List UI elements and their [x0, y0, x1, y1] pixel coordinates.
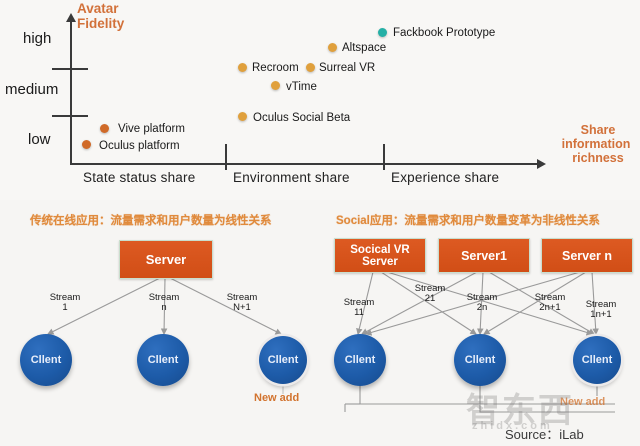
y-tick-high-medium	[52, 68, 88, 70]
x-axis-title-line2: information	[552, 138, 640, 151]
left-client-2-label: Cllent	[148, 354, 179, 366]
right-stream-11-line2: 11	[332, 308, 386, 318]
left-diagram-title: 传统在线应用：流量需求和用户数量为线性关系	[30, 212, 272, 228]
slide-root: high medium low Avatar Fidelity State st…	[0, 0, 640, 446]
data-label-recroom: Recroom	[252, 62, 299, 74]
network-diagrams: 传统在线应用：流量需求和用户数量为线性关系 Server Stream 1 St…	[0, 200, 640, 446]
left-client-3-label: Cllent	[268, 354, 299, 366]
left-stream-1-line2: 1	[36, 303, 94, 313]
data-label-vive-platform: Vive platform	[118, 123, 185, 135]
right-client-2-label: Cllent	[465, 354, 496, 366]
right-diagram-title: Social应用：流量需求和用户数量变革为非线性关系	[336, 212, 600, 228]
right-stream-2n-line2: 2n	[455, 303, 509, 313]
left-client-1-label: Cllent	[31, 354, 62, 366]
left-new-add-badge: New add	[254, 392, 299, 404]
data-point-vive-platform[interactable]	[100, 124, 109, 133]
data-point-oculus-platform[interactable]	[82, 140, 91, 149]
y-axis-title-line1: Avatar	[77, 2, 119, 15]
x-divider-2	[383, 144, 385, 170]
left-stream-n1-line2: N+1	[212, 303, 272, 313]
right-server-3-line1: Server n	[562, 250, 612, 262]
y-axis-arrow-icon	[66, 13, 76, 22]
right-client-1[interactable]: Cllent	[334, 334, 386, 386]
data-point-vtime[interactable]	[271, 81, 280, 90]
right-client-1-label: Cllent	[345, 354, 376, 366]
y-tick-medium-low	[52, 115, 88, 117]
x-label-experience-share: Experience share	[391, 170, 499, 185]
data-point-recroom[interactable]	[238, 63, 247, 72]
x-label-state-status-share: State status share	[83, 170, 195, 185]
y-label-medium: medium	[5, 81, 58, 98]
data-label-oculus-social-beta: Oculus Social Beta	[253, 112, 350, 124]
right-new-add-badge: New add	[560, 396, 605, 408]
data-label-altspace: Altspace	[342, 42, 386, 54]
x-divider-1	[225, 144, 227, 170]
left-server-label: Server	[146, 254, 186, 266]
source-caption: Source：iLab	[505, 424, 584, 443]
right-server-1[interactable]: Server1	[438, 238, 530, 273]
data-label-oculus-platform: Oculus platform	[99, 140, 180, 152]
data-point-oculus-social-beta[interactable]	[238, 112, 247, 121]
right-stream-1n1-line2: 1n+1	[572, 310, 630, 320]
data-label-fackbook-prototype: Fackbook Prototype	[393, 27, 495, 39]
right-stream-21-line2: 21	[403, 294, 457, 304]
y-axis-line	[70, 22, 72, 165]
right-stream-2n1-line2: 2n+1	[521, 303, 579, 313]
left-server-box[interactable]: Server	[119, 240, 213, 279]
diagram-connectors	[0, 200, 640, 446]
left-client-2[interactable]: Cllent	[137, 334, 189, 386]
right-client-3-new[interactable]: Cllent	[573, 336, 621, 384]
y-label-low: low	[28, 131, 51, 148]
data-point-altspace[interactable]	[328, 43, 337, 52]
right-server-n[interactable]: Server n	[541, 238, 633, 273]
y-label-high: high	[23, 30, 51, 47]
right-server-socical-vr[interactable]: Socical VR Server	[334, 238, 426, 273]
avatar-fidelity-chart: high medium low Avatar Fidelity State st…	[0, 0, 640, 200]
data-point-surreal-vr[interactable]	[306, 63, 315, 72]
right-server-1-line1: Socical VR	[350, 244, 409, 256]
data-label-surreal-vr: Surreal VR	[319, 62, 375, 74]
data-point-fackbook-prototype[interactable]	[378, 28, 387, 37]
x-axis-title-line3: richness	[560, 152, 636, 165]
x-label-environment-share: Environment share	[233, 170, 350, 185]
data-label-vtime: vTime	[286, 81, 317, 93]
x-axis-arrow-icon	[537, 159, 546, 169]
right-server-2-line1: Server1	[461, 250, 507, 262]
right-client-3-label: Cllent	[582, 354, 613, 366]
x-axis-line	[70, 163, 538, 165]
right-client-2[interactable]: Cllent	[454, 334, 506, 386]
x-axis-title-line1: Share	[560, 124, 636, 137]
left-client-3-new[interactable]: Cllent	[259, 336, 307, 384]
left-stream-n-line2: n	[135, 303, 193, 313]
right-server-1-line2: Server	[362, 256, 398, 268]
y-axis-title-line2: Fidelity	[77, 17, 124, 30]
left-client-1[interactable]: Cllent	[20, 334, 72, 386]
